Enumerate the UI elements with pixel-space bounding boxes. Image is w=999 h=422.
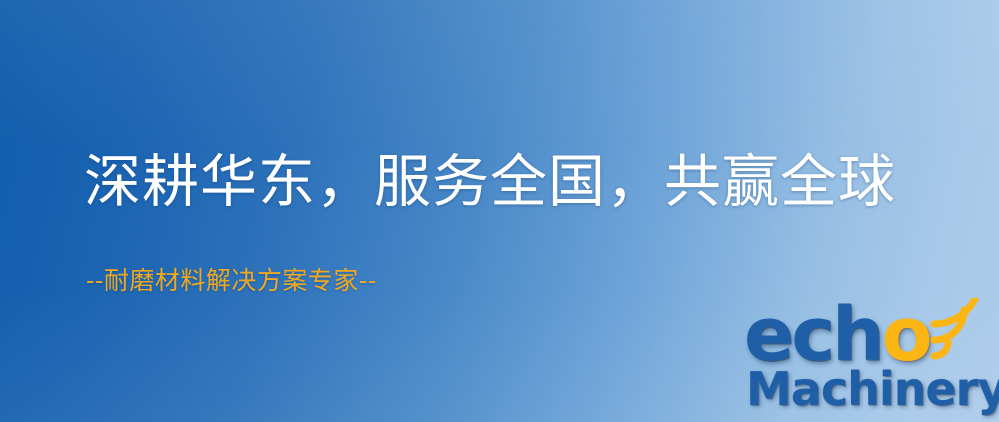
logo-text-o: o bbox=[882, 298, 931, 372]
logo-text-ech: ech bbox=[744, 298, 882, 372]
banner-headline: 深耕华东，服务全国，共赢全球 bbox=[84, 152, 896, 214]
echo-machinery-logo: ech o Machinery® bbox=[744, 298, 999, 422]
signal-waves-icon bbox=[930, 298, 992, 362]
promo-banner: 深耕华东，服务全国，共赢全球 --耐磨材料解决方案专家-- ech o Mach… bbox=[0, 0, 999, 422]
logo-machinery-word: Machinery bbox=[746, 362, 999, 416]
logo-wordmark: ech o bbox=[744, 298, 931, 366]
logo-text-machinery: Machinery® bbox=[746, 366, 999, 412]
banner-subtitle: --耐磨材料解决方案专家-- bbox=[86, 266, 377, 296]
